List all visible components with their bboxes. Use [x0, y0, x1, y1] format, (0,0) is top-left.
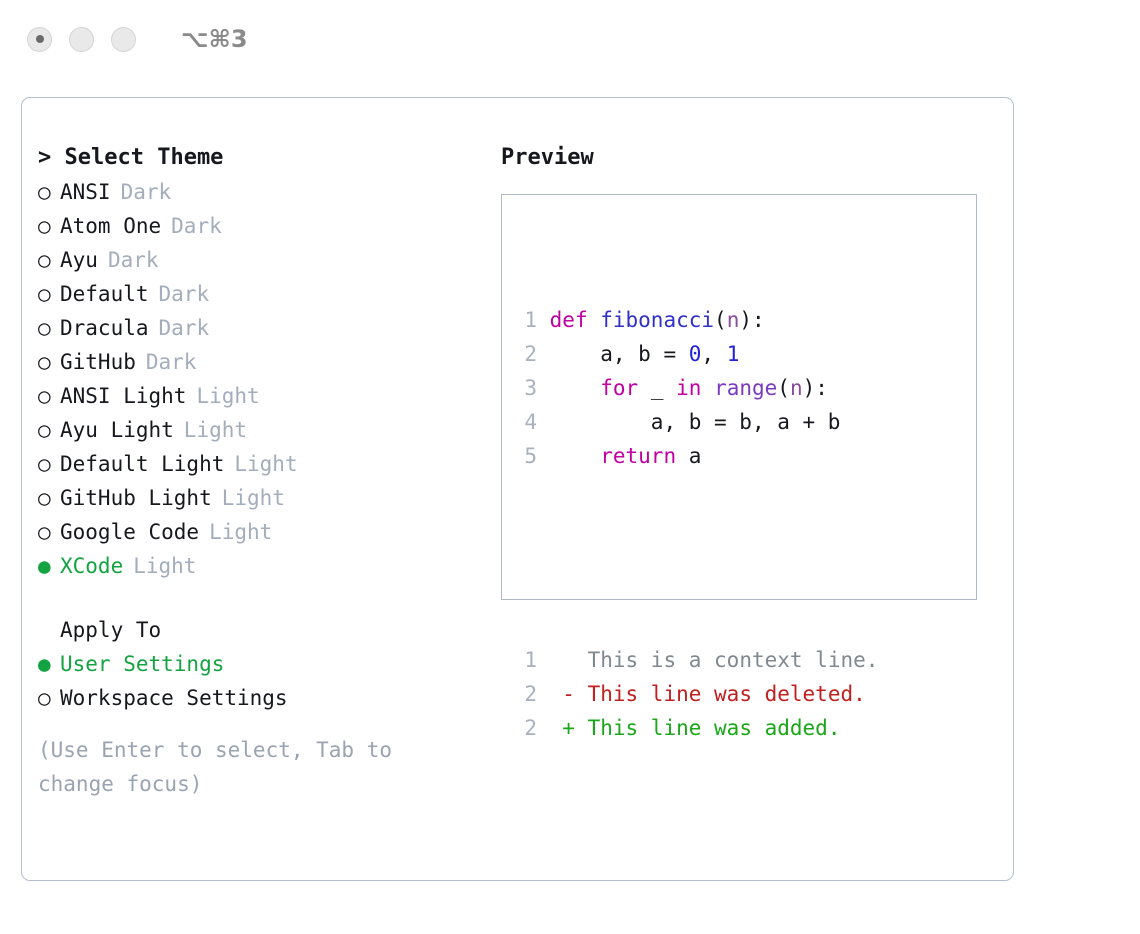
code-token: n — [727, 308, 740, 332]
code-token: range — [714, 376, 777, 400]
radio-unselected-icon: ○ — [38, 379, 60, 413]
theme-name-label: Google Code — [60, 515, 199, 549]
radio-unselected-icon: ○ — [38, 447, 60, 481]
diff-sign — [562, 648, 575, 672]
radio-selected-icon: ● — [38, 549, 60, 583]
diff-block: 1 This is a context line.2 - This line w… — [515, 643, 878, 745]
theme-kind-badge: Dark — [161, 209, 222, 243]
code-token: 0 — [689, 342, 702, 366]
diff-sign: + — [562, 716, 575, 740]
radio-unselected-icon: ○ — [38, 481, 60, 515]
code-token — [550, 376, 601, 400]
diff-line-number: 2 — [515, 677, 537, 711]
theme-selector-column: > Select Theme ○ANSIDark○Atom OneDark○Ay… — [38, 141, 478, 801]
radio-unselected-icon: ○ — [38, 345, 60, 379]
code-line: 2 a, b = 0, 1 — [515, 337, 878, 371]
theme-option-dracula[interactable]: ○DraculaDark — [38, 311, 478, 345]
code-line: 3 for _ in range(n): — [515, 371, 878, 405]
theme-name-label: Atom One — [60, 209, 161, 243]
theme-option-google-code[interactable]: ○Google CodeLight — [38, 515, 478, 549]
theme-name-label: ANSI Light — [60, 379, 186, 413]
theme-option-github-light[interactable]: ○GitHub LightLight — [38, 481, 478, 515]
diff-text: This line was added. — [575, 716, 841, 740]
theme-kind-badge: Dark — [149, 311, 210, 345]
apply-to-label: Workspace Settings — [60, 681, 288, 715]
radio-unselected-icon: ○ — [38, 175, 60, 209]
theme-option-ansi[interactable]: ○ANSIDark — [38, 175, 478, 209]
record-dot-icon — [36, 35, 44, 43]
theme-name-label: Ayu — [60, 243, 98, 277]
line-number: 5 — [515, 439, 537, 473]
code-token — [550, 444, 601, 468]
title-bar: ⌥⌘3 — [0, 0, 1140, 78]
diff-line-del: 2 - This line was deleted. — [515, 677, 878, 711]
preview-heading: Preview — [501, 141, 991, 175]
theme-kind-badge: Light — [174, 413, 247, 447]
code-token — [676, 444, 689, 468]
theme-name-label: GitHub — [60, 345, 136, 379]
keyboard-shortcut-label: ⌥⌘3 — [181, 25, 248, 53]
theme-name-label: GitHub Light — [60, 481, 212, 515]
code-token: _ — [638, 376, 676, 400]
theme-option-default[interactable]: ○DefaultDark — [38, 277, 478, 311]
code-token — [701, 376, 714, 400]
theme-kind-badge: Dark — [111, 175, 172, 209]
diff-text: This line was deleted. — [575, 682, 866, 706]
window-dot-active[interactable] — [27, 27, 52, 52]
theme-name-label: Default Light — [60, 447, 224, 481]
code-token: a, b = b, a + b — [550, 410, 841, 434]
window-controls — [27, 27, 136, 52]
code-token: ): — [739, 308, 764, 332]
theme-kind-badge: Light — [123, 549, 196, 583]
theme-kind-badge: Light — [212, 481, 285, 515]
theme-name-label: Default — [60, 277, 149, 311]
code-token: def — [550, 308, 601, 332]
code-line: 1 def fibonacci(n): — [515, 303, 878, 337]
line-number: 4 — [515, 405, 537, 439]
theme-option-ayu[interactable]: ○AyuDark — [38, 243, 478, 277]
theme-name-label: Ayu Light — [60, 413, 174, 447]
diff-sign: - — [562, 682, 575, 706]
page-corner — [1124, 918, 1140, 934]
radio-unselected-icon: ○ — [38, 681, 60, 715]
window-dot-3[interactable] — [111, 27, 136, 52]
line-number: 3 — [515, 371, 537, 405]
apply-to-option-user-settings[interactable]: ●User Settings — [38, 647, 478, 681]
theme-option-default-light[interactable]: ○Default LightLight — [38, 447, 478, 481]
apply-to-label: User Settings — [60, 647, 224, 681]
theme-option-xcode[interactable]: ●XCodeLight — [38, 549, 478, 583]
diff-line-number: 1 — [515, 643, 537, 677]
apply-to-list[interactable]: ●User Settings○Workspace Settings — [38, 647, 478, 715]
theme-kind-badge: Dark — [136, 345, 197, 379]
code-token: ): — [803, 376, 828, 400]
main-panel: > Select Theme ○ANSIDark○Atom OneDark○Ay… — [21, 97, 1014, 881]
app-window: ⌥⌘3 > Select Theme ○ANSIDark○Atom OneDar… — [0, 0, 1140, 934]
radio-unselected-icon: ○ — [38, 277, 60, 311]
diff-line-add: 2 + This line was added. — [515, 711, 878, 745]
window-dot-2[interactable] — [69, 27, 94, 52]
radio-unselected-icon: ○ — [38, 515, 60, 549]
preview-box: 1 def fibonacci(n):2 a, b = 0, 13 for _ … — [501, 194, 977, 600]
code-token: a — [689, 444, 702, 468]
theme-kind-badge: Light — [224, 447, 297, 481]
apply-to-option-workspace-settings[interactable]: ○Workspace Settings — [38, 681, 478, 715]
theme-kind-badge: Dark — [98, 243, 159, 277]
select-theme-heading: > Select Theme — [38, 141, 478, 175]
code-token: fibonacci — [600, 308, 714, 332]
radio-unselected-icon: ○ — [38, 209, 60, 243]
radio-selected-icon: ● — [38, 647, 60, 681]
radio-unselected-icon: ○ — [38, 311, 60, 345]
preview-column: Preview 1 def fibonacci(n):2 a, b = 0, 1… — [501, 141, 991, 600]
theme-kind-badge: Dark — [149, 277, 210, 311]
code-token: return — [600, 444, 676, 468]
radio-unselected-icon: ○ — [38, 243, 60, 277]
theme-name-label: Dracula — [60, 311, 149, 345]
line-number: 2 — [515, 337, 537, 371]
theme-kind-badge: Light — [199, 515, 272, 549]
code-line: 4 a, b = b, a + b — [515, 405, 878, 439]
theme-option-ayu-light[interactable]: ○Ayu LightLight — [38, 413, 478, 447]
code-token: n — [790, 376, 803, 400]
apply-to-heading: Apply To — [38, 613, 478, 647]
keyboard-hint-text: (Use Enter to select, Tab to change focu… — [38, 733, 448, 801]
code-token: , — [701, 342, 726, 366]
theme-option-ansi-light[interactable]: ○ANSI LightLight — [38, 379, 478, 413]
diff-line-ctx: 1 This is a context line. — [515, 643, 878, 677]
code-sample: 1 def fibonacci(n):2 a, b = 0, 13 for _ … — [515, 235, 878, 813]
code-token: ( — [714, 308, 727, 332]
line-number: 1 — [515, 303, 537, 337]
theme-list[interactable]: ○ANSIDark○Atom OneDark○AyuDark○DefaultDa… — [38, 175, 478, 583]
theme-option-github[interactable]: ○GitHubDark — [38, 345, 478, 379]
diff-text: This is a context line. — [575, 648, 878, 672]
code-diff-spacer — [515, 541, 878, 575]
theme-name-label: XCode — [60, 549, 123, 583]
theme-name-label: ANSI — [60, 175, 111, 209]
code-token: a, b = — [550, 342, 689, 366]
code-token: in — [676, 376, 701, 400]
code-token: for — [600, 376, 638, 400]
code-line: 5 return a — [515, 439, 878, 473]
code-token: 1 — [727, 342, 740, 366]
theme-option-atom-one[interactable]: ○Atom OneDark — [38, 209, 478, 243]
diff-line-number: 2 — [515, 711, 537, 745]
syntax-code-block: 1 def fibonacci(n):2 a, b = 0, 13 for _ … — [515, 303, 878, 473]
code-token: ( — [777, 376, 790, 400]
radio-unselected-icon: ○ — [38, 413, 60, 447]
theme-kind-badge: Light — [186, 379, 259, 413]
